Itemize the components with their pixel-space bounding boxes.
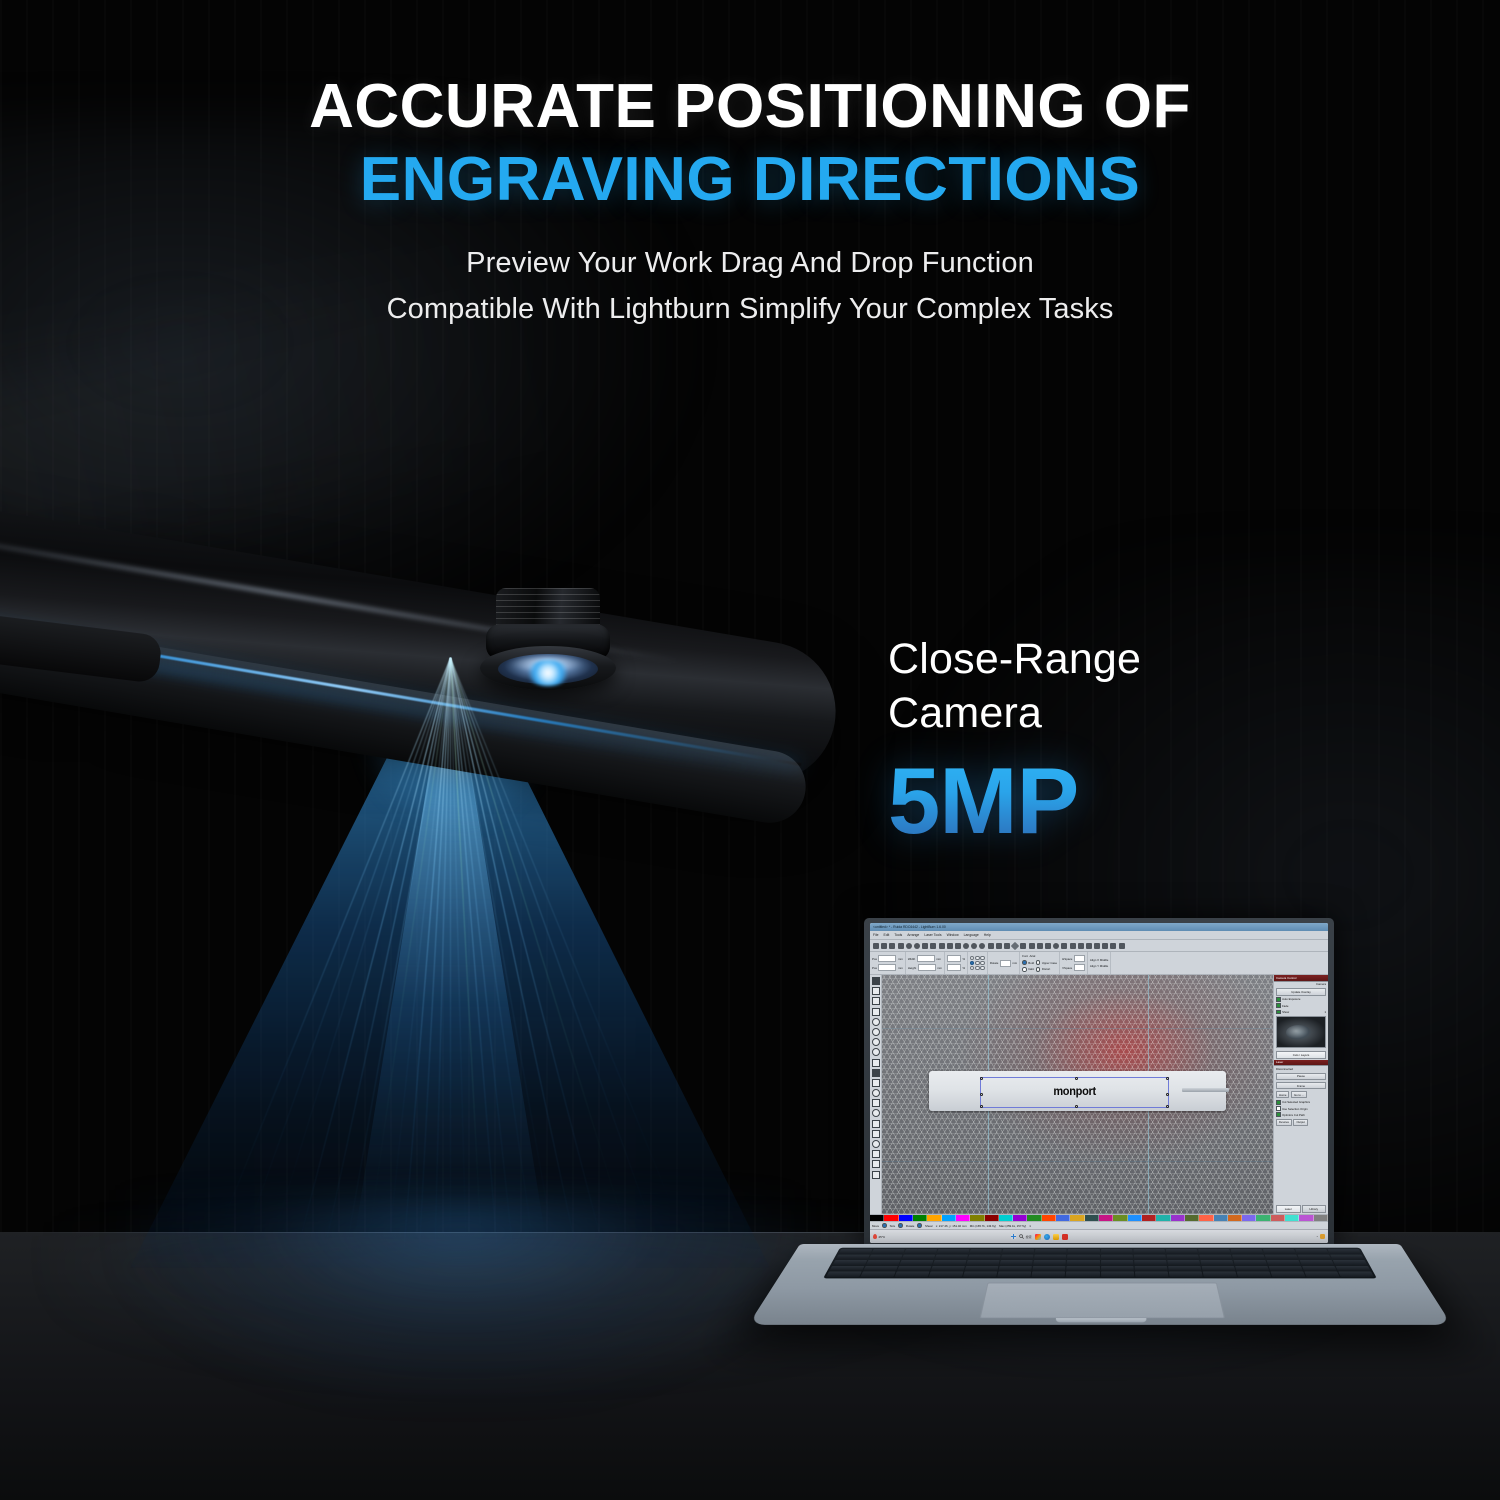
tool-button[interactable] xyxy=(872,977,880,985)
keyboard-key[interactable] xyxy=(895,1272,930,1277)
palette-swatch[interactable] xyxy=(1099,1215,1113,1221)
lens-light-emitter xyxy=(526,660,570,686)
toolbar-icon[interactable] xyxy=(1053,943,1059,949)
status-shear-radio[interactable] xyxy=(917,1223,922,1228)
keyboard-key[interactable] xyxy=(1000,1260,1033,1265)
show-row[interactable]: Show 1 xyxy=(1274,1009,1328,1015)
keyboard-key[interactable] xyxy=(1035,1249,1067,1254)
tool-button[interactable] xyxy=(872,1008,880,1016)
scale-y-percent: % xyxy=(963,966,966,970)
keyboard-key[interactable] xyxy=(1134,1260,1167,1265)
bottom-dock-tabs[interactable]: Laser Library xyxy=(1274,1204,1328,1214)
windows-start-icon[interactable] xyxy=(1011,1234,1016,1239)
palette-swatch[interactable] xyxy=(1113,1215,1127,1221)
keyboard-key[interactable] xyxy=(904,1249,937,1254)
status-rotate: Rotate xyxy=(906,1224,915,1228)
laptop: <untitled> * - Ruida RDC6442 - LightBurn… xyxy=(790,918,1410,1418)
anchor-grid[interactable] xyxy=(970,956,985,971)
size-fields[interactable]: Width mm Height mm xyxy=(906,952,945,974)
keyboard-row xyxy=(836,1254,1365,1259)
keyboard-key[interactable] xyxy=(965,1266,999,1271)
keyboard-key[interactable] xyxy=(1198,1249,1231,1254)
keyboard-key[interactable] xyxy=(1268,1266,1303,1271)
keyboard-key[interactable] xyxy=(899,1260,933,1265)
status-bar: Move Size Rotate Shear x: 217.46, y: 151… xyxy=(870,1222,1328,1229)
keyboard-key[interactable] xyxy=(1134,1272,1168,1277)
tool-button[interactable] xyxy=(872,1018,880,1026)
toolbar-icon[interactable] xyxy=(881,943,887,949)
keyboard-key[interactable] xyxy=(839,1249,873,1254)
anchor-selector[interactable] xyxy=(968,952,988,974)
status-count: 1 xyxy=(1029,1224,1031,1228)
window-title-bar: <untitled> * - Ruida RDC6442 - LightBurn… xyxy=(870,923,1328,931)
tool-button[interactable] xyxy=(872,1171,880,1179)
taskbar-center[interactable]: 搜索 xyxy=(1011,1234,1068,1240)
headline-line-2: ENGRAVING DIRECTIONS xyxy=(0,145,1500,214)
laptop-keyboard[interactable] xyxy=(823,1248,1377,1279)
toolbar-icon[interactable] xyxy=(898,943,904,949)
tool-button[interactable] xyxy=(872,1130,880,1138)
palette-swatch[interactable] xyxy=(970,1215,984,1221)
keyboard-key[interactable] xyxy=(1101,1249,1133,1254)
palette-swatch[interactable] xyxy=(1013,1215,1027,1221)
laptop-screen: <untitled> * - Ruida RDC6442 - LightBurn… xyxy=(870,923,1328,1243)
status-move: Move xyxy=(872,1224,879,1228)
devices-output-row[interactable]: Devices Output xyxy=(1274,1118,1328,1127)
palette-swatch[interactable] xyxy=(1085,1215,1099,1221)
keyboard-key[interactable] xyxy=(929,1272,964,1277)
keyboard-key[interactable] xyxy=(1264,1254,1298,1259)
toolbar-icon[interactable] xyxy=(939,943,945,949)
poster-stage: ACCURATE POSITIONING OF ENGRAVING DIRECT… xyxy=(0,0,1500,1500)
status-min: Min (165.7k, 143.6y) xyxy=(970,1224,996,1228)
show-value: 1 xyxy=(1324,1010,1326,1014)
rotate-label: Rotate xyxy=(990,961,999,965)
tool-button[interactable] xyxy=(872,1059,880,1067)
toolbar-icon[interactable] xyxy=(1020,943,1026,949)
keyboard-key[interactable] xyxy=(1167,1260,1200,1265)
align-y-label: Align Y Middle xyxy=(1090,964,1108,968)
status-max: Max (259.1k, 157.5y) xyxy=(999,1224,1026,1228)
camera-control-header: Camera Control xyxy=(1274,975,1328,982)
photos-app-icon[interactable] xyxy=(1035,1234,1041,1240)
keyboard-key[interactable] xyxy=(1066,1272,1099,1277)
main-toolbar[interactable] xyxy=(870,940,1328,952)
bold-radio[interactable] xyxy=(1022,960,1027,965)
keyboard-key[interactable] xyxy=(1166,1254,1199,1259)
menu-bar[interactable]: File Edit Tools Arrange Laser Tools Wind… xyxy=(870,931,1328,940)
keyboard-key[interactable] xyxy=(1304,1272,1339,1277)
uppercase-radio[interactable] xyxy=(1036,960,1041,965)
keyboard-key[interactable] xyxy=(1068,1249,1100,1254)
vspace-input[interactable] xyxy=(1074,964,1085,971)
keyboard-key[interactable] xyxy=(871,1249,905,1254)
keyboard-key[interactable] xyxy=(1235,1266,1269,1271)
keyboard-key[interactable] xyxy=(1236,1272,1271,1277)
tool-button[interactable] xyxy=(872,987,880,995)
keyboard-key[interactable] xyxy=(970,1249,1003,1254)
menu-item-arrange[interactable]: Arrange xyxy=(907,933,919,937)
palette-swatch[interactable] xyxy=(956,1215,970,1221)
workpiece-tip xyxy=(1182,1088,1230,1092)
pause-button[interactable]: Pause xyxy=(1276,1073,1326,1081)
keyboard-key[interactable] xyxy=(1101,1260,1133,1265)
keyboard-key[interactable] xyxy=(1199,1254,1232,1259)
bold-label: Bold xyxy=(1028,961,1034,965)
update-overlay-row[interactable]: Update Overlay xyxy=(1274,987,1328,996)
status-size-radio[interactable] xyxy=(882,1223,887,1228)
pos-x-input[interactable] xyxy=(878,955,896,962)
selection-handle[interactable] xyxy=(1075,1105,1079,1109)
tool-button[interactable] xyxy=(872,1160,880,1168)
keyboard-key[interactable] xyxy=(1101,1266,1134,1271)
output-button[interactable]: Output xyxy=(1293,1119,1307,1127)
scale-fields[interactable]: % % xyxy=(945,952,968,974)
menu-item-file[interactable]: File xyxy=(873,933,878,937)
toolbar-icon[interactable] xyxy=(996,943,1002,949)
palette-swatch[interactable] xyxy=(913,1215,927,1221)
tool-button[interactable] xyxy=(872,1079,880,1087)
tab-laser[interactable]: Laser xyxy=(1276,1205,1301,1213)
laptop-front-notch xyxy=(1056,1318,1147,1322)
selection-handle[interactable] xyxy=(1075,1077,1079,1081)
palette-swatch[interactable] xyxy=(899,1215,913,1221)
laptop-base xyxy=(748,1244,1451,1325)
optimize-label: Optimize Cut Path xyxy=(1282,1113,1305,1117)
frame-row[interactable]: Frame xyxy=(1274,1081,1328,1090)
alignment-settings[interactable]: Align X Middle Align Y Middle xyxy=(1088,952,1111,974)
font-value[interactable]: Arial xyxy=(1030,954,1036,958)
menu-item-edit[interactable]: Edit xyxy=(883,933,889,937)
selection-handle[interactable] xyxy=(980,1093,984,1097)
tool-button[interactable] xyxy=(872,1038,880,1046)
keyboard-key[interactable] xyxy=(1270,1272,1305,1277)
font-label: Font xyxy=(1022,954,1028,958)
scale-x-input[interactable] xyxy=(947,955,961,962)
update-overlay-button[interactable]: Update Overlay xyxy=(1276,988,1326,996)
use-selection-checkbox[interactable] xyxy=(1276,1106,1281,1111)
status-cursor: x: 217.46, y: 151.40 mm xyxy=(936,1224,967,1228)
tool-button[interactable] xyxy=(872,1099,880,1107)
toolbar-icon[interactable] xyxy=(1078,943,1084,949)
keyboard-key[interactable] xyxy=(933,1260,967,1265)
selection-handle[interactable] xyxy=(1166,1077,1170,1081)
toolbar-icon[interactable] xyxy=(1094,943,1100,949)
keyboard-key[interactable] xyxy=(860,1272,895,1277)
selection-handle[interactable] xyxy=(980,1077,984,1081)
menu-item-language[interactable]: Language xyxy=(964,933,979,937)
keyboard-key[interactable] xyxy=(966,1260,1000,1265)
keyboard-key[interactable] xyxy=(1067,1254,1099,1259)
vspace-label: VSpace xyxy=(1062,966,1072,970)
tool-button[interactable] xyxy=(872,1028,880,1036)
auto-exposure-label: Auto Exposure xyxy=(1282,997,1300,1001)
toolbar-icon[interactable] xyxy=(1086,943,1092,949)
keyboard-key[interactable] xyxy=(836,1254,870,1259)
taskbar-search[interactable]: 搜索 xyxy=(1019,1234,1032,1239)
keyboard-key[interactable] xyxy=(1233,1260,1267,1265)
keyboard-key[interactable] xyxy=(1034,1254,1066,1259)
keyboard-key[interactable] xyxy=(1002,1249,1034,1254)
home-button[interactable]: Home xyxy=(1276,1091,1289,1099)
tab-library[interactable]: Library xyxy=(1302,1205,1327,1213)
keyboard-key[interactable] xyxy=(1201,1266,1235,1271)
cut-selected-label: Cut Selected Graphics xyxy=(1282,1100,1310,1104)
fade-checkbox[interactable] xyxy=(1276,1003,1281,1008)
font-settings[interactable]: Font Arial Bold Upper Case xyxy=(1020,952,1060,974)
palette-swatch[interactable] xyxy=(999,1215,1013,1221)
palette-swatch[interactable] xyxy=(1271,1215,1285,1221)
toolbar-icon[interactable] xyxy=(906,943,912,949)
toolbar-icon[interactable] xyxy=(963,943,969,949)
tool-button[interactable] xyxy=(872,1120,880,1128)
palette-swatch[interactable] xyxy=(884,1215,898,1221)
file-explorer-icon[interactable] xyxy=(1053,1234,1059,1240)
left-tool-palette[interactable] xyxy=(870,975,882,1214)
align-x-label: Align X Middle xyxy=(1090,958,1108,962)
toolbar-icon[interactable] xyxy=(1119,943,1125,949)
artwork-text: monport xyxy=(1053,1087,1096,1099)
subheadline-block: Preview Your Work Drag And Drop Function… xyxy=(0,241,1500,333)
height-input[interactable] xyxy=(918,964,936,971)
laptop-trackpad[interactable] xyxy=(980,1283,1226,1319)
menu-item-window[interactable]: Window xyxy=(947,933,959,937)
show-label: Show xyxy=(1282,1010,1289,1014)
search-icon xyxy=(1019,1234,1024,1239)
keyboard-key[interactable] xyxy=(1295,1249,1329,1254)
keyboard-key[interactable] xyxy=(1133,1249,1165,1254)
keyboard-key[interactable] xyxy=(1033,1266,1066,1271)
toolbar-icon[interactable] xyxy=(971,943,977,949)
toolbar-icon[interactable] xyxy=(1102,943,1108,949)
devices-button[interactable]: Devices xyxy=(1276,1119,1292,1127)
keyboard-key[interactable] xyxy=(1302,1266,1337,1271)
cut-selected-checkbox[interactable] xyxy=(1276,1100,1281,1105)
keyboard-key[interactable] xyxy=(1299,1260,1334,1265)
toolbar-icon[interactable] xyxy=(1061,943,1067,949)
keyboard-key[interactable] xyxy=(902,1254,936,1259)
palette-swatch[interactable] xyxy=(1242,1215,1256,1221)
palette-swatch[interactable] xyxy=(1070,1215,1084,1221)
distort-radio[interactable] xyxy=(1036,967,1041,972)
system-tray[interactable]: ^ xyxy=(1317,1234,1325,1239)
goto-button[interactable]: Go to ... xyxy=(1291,1091,1307,1099)
keyboard-key[interactable] xyxy=(1297,1254,1331,1259)
home-goto-row[interactable]: Home Go to ... xyxy=(1274,1090,1328,1099)
tool-button[interactable] xyxy=(872,1069,880,1077)
keyboard-key[interactable] xyxy=(1168,1266,1202,1271)
keyboard-key[interactable] xyxy=(1067,1266,1100,1271)
keyboard-key[interactable] xyxy=(999,1266,1033,1271)
keyboard-key[interactable] xyxy=(1101,1272,1134,1277)
palette-swatch[interactable] xyxy=(927,1215,941,1221)
status-rotate-radio[interactable] xyxy=(898,1223,903,1228)
keyboard-key[interactable] xyxy=(1338,1272,1374,1277)
width-label: Width xyxy=(908,957,915,961)
toolbar-icon[interactable] xyxy=(947,943,953,949)
keyboard-key[interactable] xyxy=(1327,1249,1361,1254)
keyboard-key[interactable] xyxy=(1067,1260,1099,1265)
keyboard-key[interactable] xyxy=(863,1266,898,1271)
keyboard-key[interactable] xyxy=(937,1249,970,1254)
palette-swatch[interactable] xyxy=(1056,1215,1070,1221)
palette-swatch[interactable] xyxy=(985,1215,999,1221)
rotate-unit: mm xyxy=(1012,961,1017,965)
camera-lens xyxy=(478,588,618,700)
pos-x-unit: mm xyxy=(898,957,903,961)
keyboard-key[interactable] xyxy=(897,1266,932,1271)
toolbar-icon[interactable] xyxy=(930,943,936,949)
tool-button[interactable] xyxy=(872,997,880,1005)
keyboard-key[interactable] xyxy=(1134,1266,1167,1271)
toolbar-icon[interactable] xyxy=(889,943,895,949)
position-fields[interactable]: Pos mm Pos mm xyxy=(870,952,906,974)
cuts-layers-tabrow[interactable]: Cuts / Layers xyxy=(1274,1050,1328,1060)
palette-swatch[interactable] xyxy=(1214,1215,1228,1221)
toolbar-icon[interactable] xyxy=(1011,941,1019,949)
auto-exposure-checkbox[interactable] xyxy=(1276,997,1281,1002)
status-size: Size xyxy=(890,1224,896,1228)
keyboard-key[interactable] xyxy=(1266,1260,1300,1265)
headline-block: ACCURATE POSITIONING OF ENGRAVING DIRECT… xyxy=(0,72,1500,333)
rotate-field[interactable]: Rotate mm xyxy=(988,952,1020,974)
fade-label: Fade xyxy=(1282,1004,1288,1008)
toolbar-icon[interactable] xyxy=(955,943,961,949)
keyboard-key[interactable] xyxy=(1168,1272,1202,1277)
toolbar-icon[interactable] xyxy=(1110,943,1116,949)
show-checkbox[interactable] xyxy=(1276,1010,1281,1015)
headline-line-1: ACCURATE POSITIONING OF xyxy=(0,72,1500,141)
keyboard-key[interactable] xyxy=(931,1266,965,1271)
pause-row[interactable]: Pause xyxy=(1274,1072,1328,1081)
tray-expand-icon[interactable]: ^ xyxy=(1317,1235,1318,1239)
tool-button[interactable] xyxy=(872,1048,880,1056)
palette-swatch[interactable] xyxy=(1027,1215,1041,1221)
uppercase-label: Upper Case xyxy=(1042,961,1057,965)
palette-swatch[interactable] xyxy=(1314,1215,1328,1221)
keyboard-key[interactable] xyxy=(1032,1272,1066,1277)
palette-swatch[interactable] xyxy=(1042,1215,1056,1221)
toolbar-icon[interactable] xyxy=(914,943,920,949)
scale-y-input[interactable] xyxy=(947,964,961,971)
keyboard-key[interactable] xyxy=(1335,1266,1370,1271)
keyboard-key[interactable] xyxy=(832,1260,867,1265)
weather-widget[interactable]: 25°C xyxy=(873,1234,885,1239)
keyboard-key[interactable] xyxy=(1330,1254,1364,1259)
keyboard-key[interactable] xyxy=(963,1272,997,1277)
palette-swatch[interactable] xyxy=(1142,1215,1156,1221)
keyboard-key[interactable] xyxy=(1001,1254,1034,1259)
hspace-input[interactable] xyxy=(1074,955,1085,962)
keyboard-key[interactable] xyxy=(1034,1260,1067,1265)
hspace-label: HSpace xyxy=(1062,957,1072,961)
palette-swatch[interactable] xyxy=(1171,1215,1185,1221)
keyboard-key[interactable] xyxy=(869,1254,903,1259)
keyboard-key[interactable] xyxy=(1200,1260,1234,1265)
keyboard-key[interactable] xyxy=(1232,1254,1265,1259)
palette-swatch[interactable] xyxy=(942,1215,956,1221)
keyboard-key[interactable] xyxy=(968,1254,1001,1259)
lightburn-app-icon[interactable] xyxy=(1062,1234,1068,1240)
tool-button[interactable] xyxy=(872,1150,880,1158)
height-label: Height xyxy=(908,966,916,970)
palette-swatch[interactable] xyxy=(1228,1215,1242,1221)
laptop-lid: <untitled> * - Ruida RDC6442 - LightBurn… xyxy=(864,918,1334,1248)
design-canvas[interactable]: monport xyxy=(882,975,1273,1214)
color-palette[interactable] xyxy=(870,1214,1328,1222)
search-placeholder: 搜索 xyxy=(1026,1235,1032,1239)
palette-swatch[interactable] xyxy=(1285,1215,1299,1221)
keyboard-key[interactable] xyxy=(1133,1254,1165,1259)
toolbar-icon[interactable] xyxy=(873,943,879,949)
toolbar-icon[interactable] xyxy=(1004,943,1010,949)
palette-swatch[interactable] xyxy=(1185,1215,1199,1221)
tab-cuts-layers[interactable]: Cuts / Layers xyxy=(1276,1051,1326,1059)
pos-y-input[interactable] xyxy=(878,964,896,971)
palette-swatch[interactable] xyxy=(1299,1215,1313,1221)
rotate-input[interactable] xyxy=(1000,960,1011,967)
keyboard-key[interactable] xyxy=(829,1266,864,1271)
palette-swatch[interactable] xyxy=(1128,1215,1142,1221)
toolbar-icon[interactable] xyxy=(1037,943,1043,949)
menu-item-tools[interactable]: Tools xyxy=(894,933,902,937)
windows-taskbar[interactable]: 25°C 搜索 xyxy=(870,1229,1328,1243)
palette-swatch[interactable] xyxy=(870,1215,884,1221)
keyboard-key[interactable] xyxy=(1263,1249,1296,1254)
selection-handle[interactable] xyxy=(980,1105,984,1109)
keyboard-key[interactable] xyxy=(1202,1272,1236,1277)
keyboard-key[interactable] xyxy=(998,1272,1032,1277)
tool-button[interactable] xyxy=(872,1089,880,1097)
toolbar-icon[interactable] xyxy=(1029,943,1035,949)
menu-item-help[interactable]: Help xyxy=(984,933,991,937)
keyboard-key[interactable] xyxy=(1101,1254,1133,1259)
keyboard-key[interactable] xyxy=(1165,1249,1197,1254)
laser-panel-header: Laser xyxy=(1274,1060,1328,1067)
italic-radio[interactable] xyxy=(1022,967,1027,972)
keyboard-key[interactable] xyxy=(935,1254,968,1259)
object-properties-bar[interactable]: Pos mm Pos mm Wi xyxy=(870,952,1328,975)
palette-swatch[interactable] xyxy=(1199,1215,1213,1221)
width-input[interactable] xyxy=(917,955,935,962)
keyboard-key[interactable] xyxy=(826,1272,862,1277)
tool-button[interactable] xyxy=(872,1109,880,1117)
tray-icon[interactable] xyxy=(1320,1234,1325,1239)
bed-grid-line xyxy=(882,1028,1273,1029)
frame-button[interactable]: Frame xyxy=(1276,1082,1326,1090)
toolbar-icon[interactable] xyxy=(1045,943,1051,949)
keyboard-key[interactable] xyxy=(1333,1260,1368,1265)
optimize-checkbox[interactable] xyxy=(1276,1112,1281,1117)
tool-button[interactable] xyxy=(872,1140,880,1148)
toolbar-icon[interactable] xyxy=(988,943,994,949)
menu-item-laser-tools[interactable]: Laser Tools xyxy=(924,933,941,937)
toolbar-icon[interactable] xyxy=(979,943,985,949)
selection-handle[interactable] xyxy=(1166,1105,1170,1109)
edge-browser-icon[interactable] xyxy=(1044,1234,1050,1240)
toolbar-icon[interactable] xyxy=(922,943,928,949)
selection-handle[interactable] xyxy=(1166,1093,1170,1097)
toolbar-icon[interactable] xyxy=(1070,943,1076,949)
weather-temperature: 25°C xyxy=(879,1235,886,1239)
keyboard-key[interactable] xyxy=(866,1260,901,1265)
keyboard-key[interactable] xyxy=(1230,1249,1263,1254)
camera-preview-thumbnail[interactable] xyxy=(1276,1016,1326,1048)
palette-swatch[interactable] xyxy=(1156,1215,1170,1221)
selected-text-object[interactable]: monport xyxy=(980,1077,1170,1109)
palette-swatch[interactable] xyxy=(1256,1215,1270,1221)
spacing-settings[interactable]: HSpace VSpace xyxy=(1060,952,1088,974)
